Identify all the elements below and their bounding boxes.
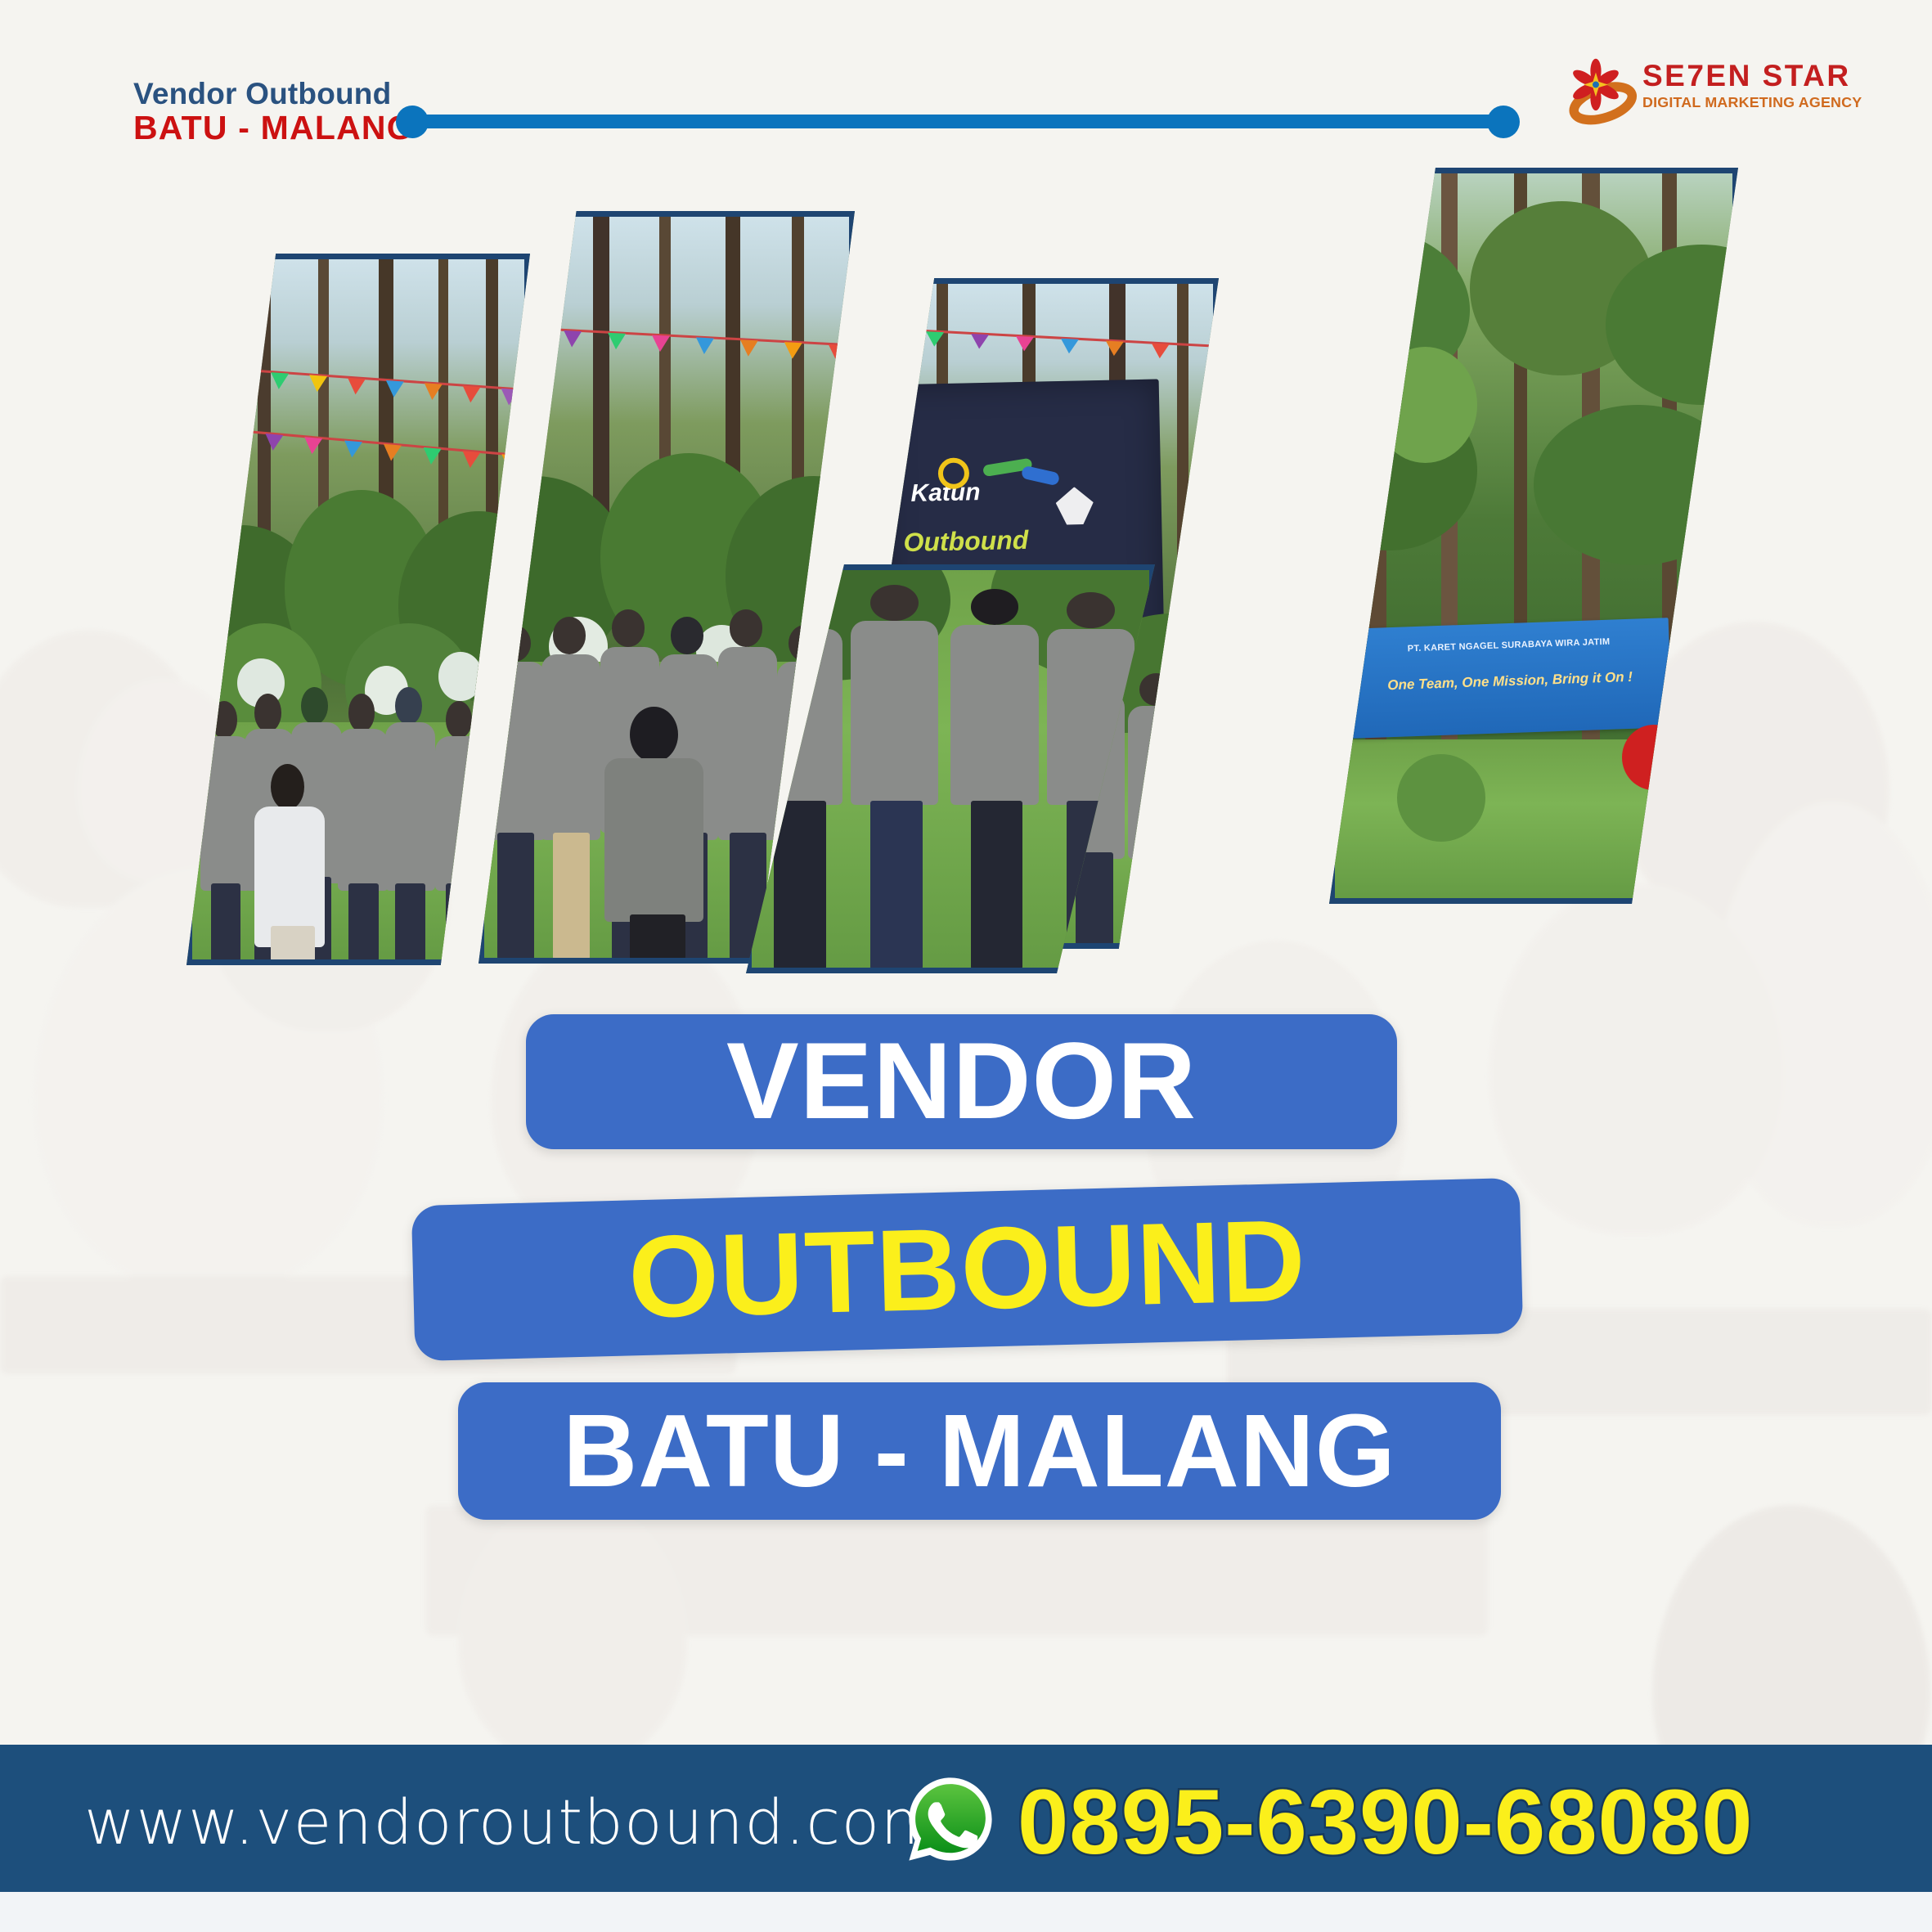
photo-forest-company-banner[interactable]: PT. KARET NGAGEL SURABAYA WIRA JATIM One… — [1329, 168, 1738, 904]
title-line-1: VENDOR — [726, 1027, 1197, 1136]
photo-group-walking-forest[interactable] — [186, 254, 530, 965]
photo-collage: Katun Outbound & Adventure — [0, 0, 1932, 1022]
whatsapp-phone-number[interactable]: 0895-6390-68080 — [1018, 1769, 1753, 1875]
footer-bottom-strip — [0, 1892, 1932, 1932]
title-banner-outbound: OUTBOUND — [411, 1178, 1523, 1361]
website-url[interactable]: www.vendoroutbound.com — [84, 1786, 942, 1858]
poster-canvas: Vendor Outbound BATU - MALANG — [0, 0, 1932, 1932]
title-banner-vendor: VENDOR — [526, 1014, 1397, 1149]
title-banner-batu-malang: BATU - MALANG — [458, 1382, 1501, 1520]
company-banner-slogan: One Team, One Mission, Bring it On ! — [1350, 667, 1670, 695]
title-line-2: OUTBOUND — [627, 1203, 1308, 1337]
title-line-3: BATU - MALANG — [563, 1400, 1395, 1503]
footer-bar: www.vendoroutbound.com 0895-6390-68080 — [0, 1745, 1932, 1892]
whatsapp-icon[interactable] — [905, 1774, 995, 1864]
company-banner-name: PT. KARET NGAGEL SURABAYA WIRA JATIM — [1348, 635, 1669, 656]
company-team-banner: PT. KARET NGAGEL SURABAYA WIRA JATIM One… — [1347, 618, 1671, 738]
